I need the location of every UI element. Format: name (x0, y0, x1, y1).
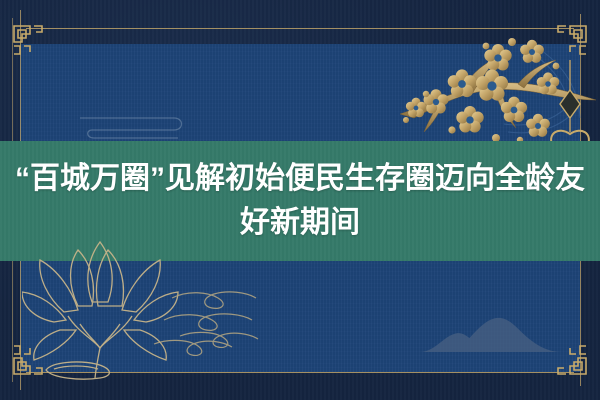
poster-title: “百城万圈”见解初始便民生存圈迈向全龄友好新期间 (10, 157, 590, 245)
poster-canvas: “百城万圈”见解初始便民生存圈迈向全龄友好新期间 (0, 0, 600, 400)
corner-fret-ornament-top-right-icon (548, 22, 590, 64)
curved-bracket-line-icon (78, 108, 188, 144)
corner-fret-ornament-bottom-left-icon (10, 336, 52, 378)
corner-fret-ornament-top-left-icon (10, 22, 52, 64)
title-container: “百城万圈”见解初始便民生存圈迈向全龄友好新期间 (0, 141, 600, 261)
corner-fret-ornament-bottom-right-icon (548, 336, 590, 378)
